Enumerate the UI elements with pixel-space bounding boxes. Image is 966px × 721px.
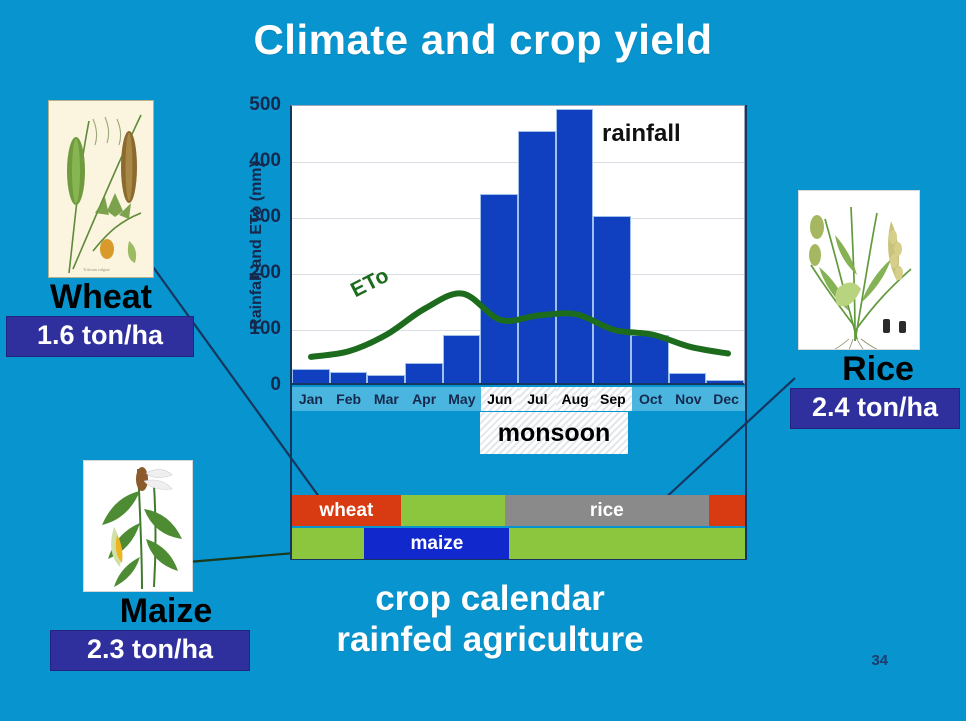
month-label-sep: Sep [594,387,632,411]
calendar-lower-row: maize [292,528,745,559]
caption-line-1: crop calendar [250,578,730,619]
month-label-oct: Oct [632,387,670,411]
crop-yield-wheat: 1.6 ton/ha [6,316,194,357]
month-label-mar: Mar [368,387,406,411]
calendar-segment-rice: rice [505,495,709,526]
month-label-feb: Feb [330,387,368,411]
caption-line-2: rainfed agriculture [250,619,730,660]
calendar-segment-maize: maize [364,528,509,559]
page-title: Climate and crop yield [0,16,966,64]
month-axis: JanFebMarAprMayJunJulAugSepOctNovDec [292,387,745,411]
month-label-jun: Jun [481,387,519,411]
calendar-segment-fallow [401,495,505,526]
y-tick-400: 400 [249,150,281,172]
y-tick-300: 300 [249,206,281,228]
rainfall-series-label: rainfall [602,120,681,148]
crop-calendar-bars: wheatricemaize [292,495,745,559]
calendar-segment-fallow [709,495,745,526]
climate-chart: Rainfall and ETo (mm) 0100200300400500 E… [211,95,756,565]
calendar-segment-fallow [292,528,364,559]
y-tick-500: 500 [249,94,281,116]
month-label-jul: Jul [519,387,557,411]
y-tick-0: 0 [270,374,281,396]
calendar-segment-fallow [509,528,745,559]
calendar-upper-row: wheatrice [292,495,745,526]
wheat-illustration: Triticum vulgare [48,100,154,278]
eto-line [292,106,747,386]
crop-name-maize: Maize [50,594,282,630]
eto-curve [311,293,728,357]
month-label-aug: Aug [556,387,594,411]
crop-yield-maize: 2.3 ton/ha [50,630,250,671]
crop-yield-rice: 2.4 ton/ha [790,388,960,429]
monsoon-callout: monsoon [480,412,628,454]
slide-number: 34 [871,652,888,669]
y-tick-200: 200 [249,262,281,284]
y-axis-ticks: 0100200300400500 [233,95,281,385]
maize-illustration [83,460,193,592]
month-label-apr: Apr [405,387,443,411]
plot-area: ETo rainfall [290,105,745,385]
month-label-nov: Nov [670,387,708,411]
month-label-dec: Dec [707,387,745,411]
crop-block-maize: Maize 2.3 ton/ha [50,460,282,671]
crop-name-wheat: Wheat [6,280,196,316]
calendar-segment-wheat: wheat [292,495,401,526]
crop-name-rice: Rice [790,352,966,388]
svg-text:Triticum vulgare: Triticum vulgare [83,267,110,272]
crop-block-wheat: Triticum vulgare Wheat 1.6 ton/ha [6,100,196,357]
crop-calendar-caption: crop calendar rainfed agriculture [250,578,730,661]
rice-illustration [798,190,920,350]
y-tick-100: 100 [249,318,281,340]
month-label-jan: Jan [292,387,330,411]
month-label-may: May [443,387,481,411]
crop-block-rice: Rice 2.4 ton/ha [790,190,966,429]
